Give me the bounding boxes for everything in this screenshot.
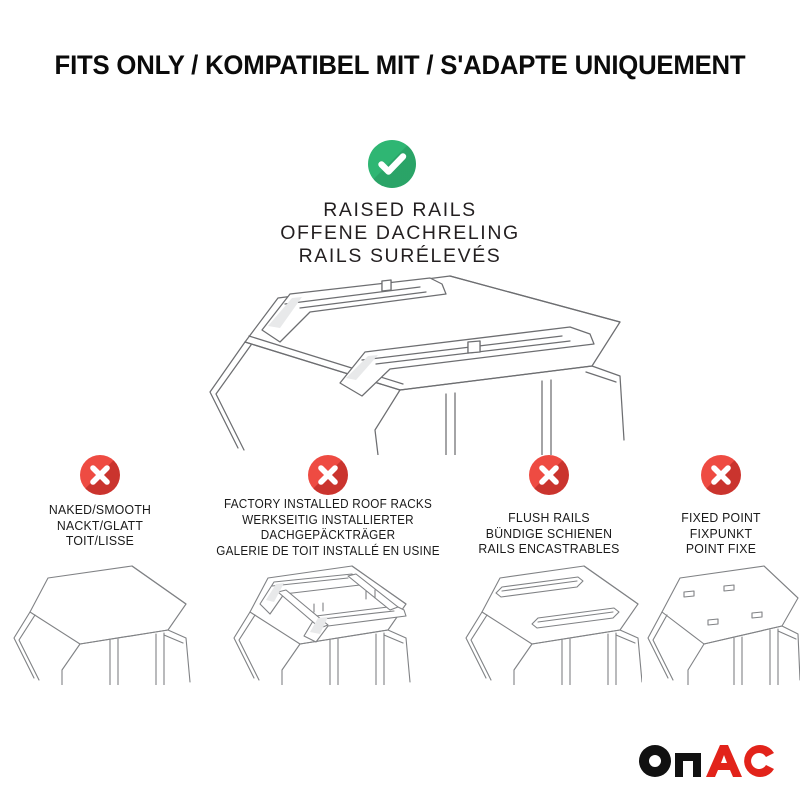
item-label-line-3: TOIT/LISSE (7, 533, 193, 549)
incompatible-item-naked-smooth: NAKED/SMOOTH NACKT/GLATT TOIT/LISSE (0, 440, 200, 800)
logo-letter-o (639, 745, 671, 777)
item-label-line-2: WERKSEITIG INSTALLIERTER (209, 513, 447, 529)
logo-letter-a (706, 745, 742, 777)
check-circle-icon (368, 140, 416, 188)
factory-roof-racks-illustration (200, 548, 456, 685)
raised-rails-roof-illustration (150, 270, 650, 455)
item-label-line-1: FACTORY INSTALLED ROOF RACKS (209, 497, 447, 513)
incompatible-item-flush-rails: FLUSH RAILS BÜNDIGE SCHIENEN RAILS ENCAS… (456, 440, 642, 800)
item-label-line-1: FIXED POINT (648, 510, 795, 526)
item-label-line-3: DACHGEPÄCKTRÄGER (209, 528, 447, 544)
item-label: NAKED/SMOOTH NACKT/GLATT TOIT/LISSE (7, 502, 193, 549)
page-title: FITS ONLY / KOMPATIBEL MIT / S'ADAPTE UN… (12, 50, 788, 81)
item-label: FLUSH RAILS BÜNDIGE SCHIENEN RAILS ENCAS… (463, 510, 636, 557)
item-label-line-1: FLUSH RAILS (463, 510, 636, 526)
logo-letter-c (744, 745, 774, 777)
compatible-line-3: RAILS SURÉLEVÉS (0, 245, 800, 268)
item-label-line-3: POINT FIXE (648, 541, 795, 557)
logo-letter-m (675, 753, 701, 777)
item-label-line-3: RAILS ENCASTRABLES (463, 541, 636, 557)
x-circle-icon (701, 455, 741, 495)
incompatible-item-factory-roof-racks: FACTORY INSTALLED ROOF RACKS WERKSEITIG … (200, 440, 456, 800)
item-label-line-2: FIXPUNKT (648, 526, 795, 542)
x-circle-icon (308, 455, 348, 495)
compatible-line-2: OFFENE DACHRELING (0, 222, 800, 245)
item-label-line-1: NAKED/SMOOTH (7, 502, 193, 518)
naked-smooth-roof-illustration (0, 560, 200, 685)
compatible-line-1: RAISED RAILS (0, 199, 800, 222)
item-label: FIXED POINT FIXPUNKT POINT FIXE (648, 510, 795, 557)
fixed-point-roof-illustration (642, 558, 800, 685)
x-circle-icon (529, 455, 569, 495)
omac-logo (638, 744, 778, 778)
x-circle-icon (80, 455, 120, 495)
item-label-line-2: BÜNDIGE SCHIENEN (463, 526, 636, 542)
item-label-line-2: NACKT/GLATT (7, 518, 193, 534)
flush-rails-roof-illustration (456, 558, 642, 685)
